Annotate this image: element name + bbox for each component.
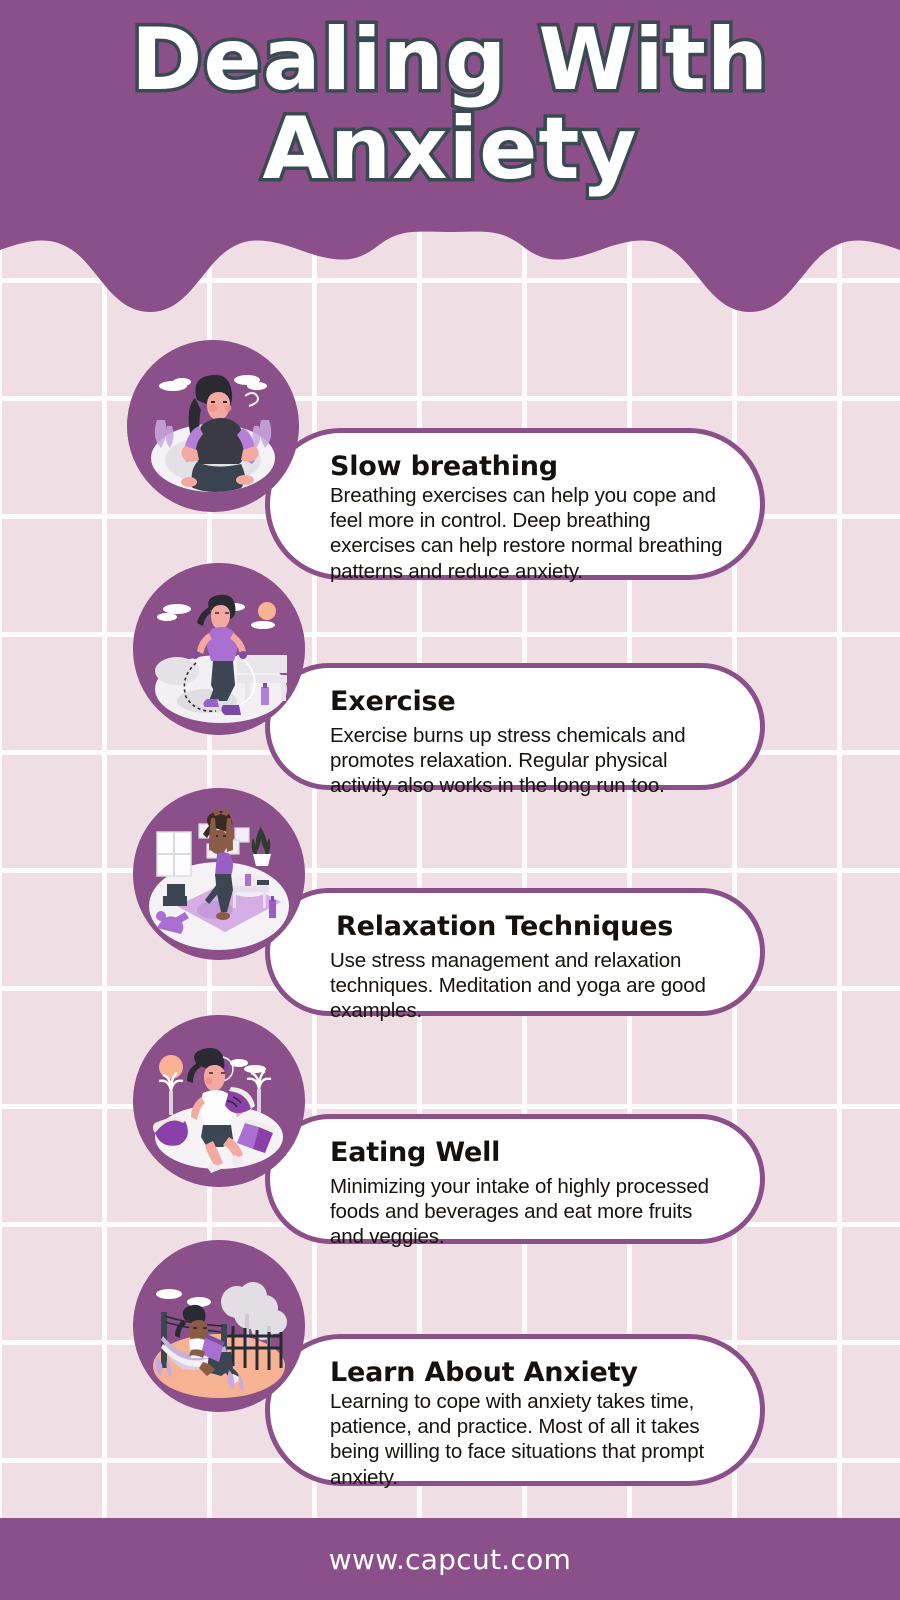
tip-title: Exercise [330,686,726,717]
footer-bar: www.capcut.com [0,1518,900,1600]
header-banner: Dealing With Anxiety [0,0,900,320]
page-title: Dealing With Anxiety [0,16,900,193]
tip-body: Learning to cope with anxiety takes time… [330,1389,726,1490]
tip-title: Relaxation Techniques [336,911,726,942]
tip-card-5[interactable]: Learn About Anxiety Learning to cope wit… [265,1334,765,1486]
tip-body: Exercise burns up stress chemicals and p… [330,723,726,799]
tip-title: Learn About Anxiety [330,1357,726,1388]
tip-title: Eating Well [330,1137,726,1168]
tip-body: Breathing exercises can help you cope an… [330,483,726,584]
tip-card-3[interactable]: Relaxation Techniques Use stress managem… [265,888,765,1016]
jump-rope-woman-icon [133,563,305,735]
watermelon-eating-woman-icon [133,1015,305,1187]
tip-body: Minimizing your intake of highly process… [330,1174,726,1250]
tip-title: Slow breathing [330,451,726,482]
tip-card-2[interactable]: Exercise Exercise burns up stress chemic… [265,663,765,790]
tip-card-1[interactable]: Slow breathing Breathing exercises can h… [265,428,765,580]
page-title-line-1: Dealing With [0,16,900,105]
footer-url[interactable]: www.capcut.com [329,1543,571,1576]
tip-body: Use stress management and relaxation tec… [330,948,726,1024]
hammock-reading-woman-icon [133,1240,305,1412]
tip-card-4[interactable]: Eating Well Minimizing your intake of hi… [265,1114,765,1244]
page-title-line-2: Anxiety [0,105,900,194]
meditating-woman-icon [127,340,299,512]
yoga-pose-woman-icon [133,788,305,960]
